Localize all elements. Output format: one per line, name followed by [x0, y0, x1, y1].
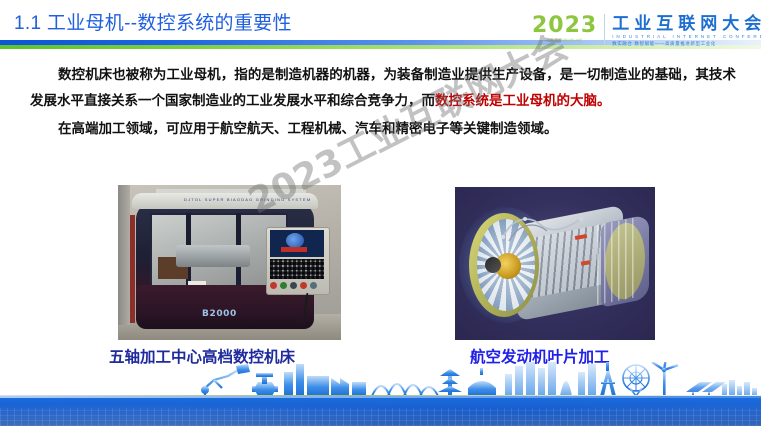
- eiffel-tower-icon: [600, 362, 616, 396]
- paragraph-1-text: 数控机床也被称为工业母机，指的是制造机器的机器，为装备制造业提供生产设备，是一切…: [30, 67, 736, 109]
- cnc-machine-top-label: DJTOL SUPER BIAODAO GRINDING SYSTEM: [184, 197, 311, 202]
- footer: [0, 362, 761, 426]
- conference-logo-en-name: INDUSTRIAL INTERNET CONFERENCE: [612, 33, 761, 40]
- robot-arm-icon: [205, 370, 238, 396]
- pagoda-icon: [438, 369, 462, 396]
- cnc-control-keypad: [270, 259, 324, 279]
- cnc-interior-spindle: [176, 245, 250, 267]
- page-title: 1.1 工业母机--数控系统的重要性: [14, 8, 292, 35]
- footer-band-grid-texture: [0, 408, 761, 426]
- body-content: 数控机床也被称为工业母机，指的是制造机器的机器，为装备制造业提供生产设备，是一切…: [30, 62, 736, 144]
- cnc-button-red-2: [300, 282, 307, 289]
- engine-spinner-cone: [485, 257, 501, 273]
- conference-logo-year-subtitle: 中国·苏州 9月19日-20日: [547, 38, 582, 43]
- cnc-control-button-row: [270, 281, 324, 290]
- footer-band: [0, 396, 761, 426]
- tower-cluster-icon: [505, 362, 596, 396]
- dome-building-icon: [468, 368, 496, 396]
- factory-icon: [284, 364, 366, 396]
- cnc-button-green: [280, 282, 287, 289]
- paragraph-1-highlight: 数控系统是工业母机的大脑。: [435, 93, 611, 109]
- conference-logo-cn-name: 工业互联网大会: [612, 14, 761, 33]
- photo-red-post: [130, 215, 135, 323]
- conference-logo-slogan: 数实融合 数智赋能——高质量推进新型工业化: [612, 40, 761, 47]
- jet-engine-photo: [455, 187, 655, 340]
- conference-logo: 2023 中国·苏州 9月19日-20日 工业互联网大会 INDUSTRIAL …: [532, 14, 761, 54]
- conference-logo-name-block: 工业互联网大会 INDUSTRIAL INTERNET CONFERENCE 数…: [612, 14, 761, 47]
- conference-logo-divider: [604, 14, 605, 44]
- cnc-screen-logo-icon: [286, 233, 304, 248]
- paragraph-2: 在高端加工领域，可应用于航空航天、工程机械、汽车和精密电子等关键制造领域。: [30, 116, 736, 142]
- ferris-wheel-icon: [623, 365, 649, 396]
- engine-top-pipes-icon: [495, 211, 615, 251]
- distant-city-icon: [722, 380, 757, 396]
- pipe-valve-icon: [252, 373, 278, 396]
- robot-arm-gripper-icon: [236, 364, 250, 374]
- cnc-machine-model-label: B2000: [202, 309, 237, 319]
- footer-skyline-graphic: [0, 362, 761, 398]
- conference-logo-year: 2023: [532, 14, 597, 38]
- wind-turbine-icon: [652, 362, 678, 396]
- cnc-button-dark: [290, 282, 297, 289]
- cnc-button-gray: [310, 282, 317, 289]
- solar-panel-icon: [686, 382, 726, 396]
- cnc-button-red: [270, 282, 277, 289]
- conference-logo-year-block: 2023 中国·苏州 9月19日-20日: [532, 14, 604, 43]
- photo-pillar: [118, 185, 130, 325]
- cnc-screen-red-banner: [281, 247, 307, 252]
- paragraph-1: 数控机床也被称为工业母机，指的是制造机器的机器，为装备制造业提供生产设备，是一切…: [30, 62, 736, 114]
- cnc-machine-photo: DJTOL SUPER BIAODAO GRINDING SYSTEM B200…: [118, 185, 341, 340]
- robot-arm-base-icon: [201, 386, 209, 394]
